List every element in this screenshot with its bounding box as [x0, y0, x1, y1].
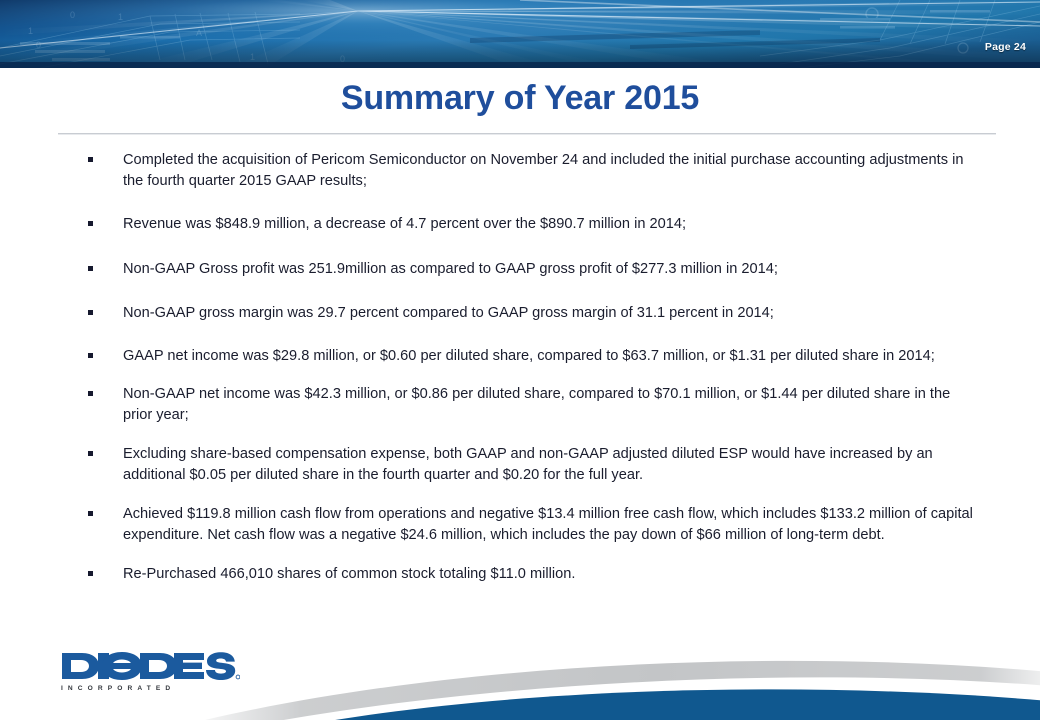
list-item-text: Achieved $119.8 million cash flow from o… [123, 504, 976, 545]
bullet-square-icon [88, 353, 93, 358]
bullet-square-icon [88, 310, 93, 315]
diodes-logo: INCORPORATED [60, 650, 240, 694]
bullet-list: Completed the acquisition of Pericom Sem… [88, 150, 976, 585]
list-item: Non-GAAP gross margin was 29.7 percent c… [88, 303, 976, 324]
bullet-square-icon [88, 157, 93, 162]
list-item-text: Non-GAAP gross margin was 29.7 percent c… [123, 303, 976, 324]
bullet-square-icon [88, 221, 93, 226]
list-item-text: Excluding share-based compensation expen… [123, 444, 976, 485]
list-item: Non-GAAP Gross profit was 251.9million a… [88, 259, 976, 280]
list-item: Non-GAAP net income was $42.3 million, o… [88, 384, 976, 425]
bullet-square-icon [88, 451, 93, 456]
list-item: Completed the acquisition of Pericom Sem… [88, 150, 976, 191]
list-item: Excluding share-based compensation expen… [88, 444, 976, 485]
list-item-text: Non-GAAP Gross profit was 251.9million a… [123, 259, 976, 280]
list-item: Revenue was $848.9 million, a decrease o… [88, 214, 976, 235]
page-title: Summary of Year 2015 [0, 79, 1040, 118]
list-item-text: Completed the acquisition of Pericom Sem… [123, 150, 976, 191]
list-item-text: Re-Purchased 466,010 shares of common st… [123, 564, 976, 585]
list-item-text: Non-GAAP net income was $42.3 million, o… [123, 384, 976, 425]
slide: 01 01 A1 0 [0, 0, 1040, 720]
bullet-square-icon [88, 511, 93, 516]
list-item: Achieved $119.8 million cash flow from o… [88, 504, 976, 545]
list-item: Re-Purchased 466,010 shares of common st… [88, 564, 976, 585]
diodes-logo-graphic: INCORPORATED [60, 650, 240, 694]
bullet-square-icon [88, 571, 93, 576]
list-item-text: Revenue was $848.9 million, a decrease o… [123, 214, 976, 235]
title-divider [58, 133, 996, 135]
page-number: Page 24 [985, 41, 1026, 53]
list-item: GAAP net income was $29.8 million, or $0… [88, 346, 976, 367]
list-item-text: GAAP net income was $29.8 million, or $0… [123, 346, 976, 367]
logo-subtext: INCORPORATED [61, 685, 175, 692]
bullet-square-icon [88, 266, 93, 271]
bullet-square-icon [88, 391, 93, 396]
header-banner: 01 01 A1 0 [0, 0, 1040, 68]
banner-graphic: 01 01 A1 0 [0, 0, 1040, 68]
